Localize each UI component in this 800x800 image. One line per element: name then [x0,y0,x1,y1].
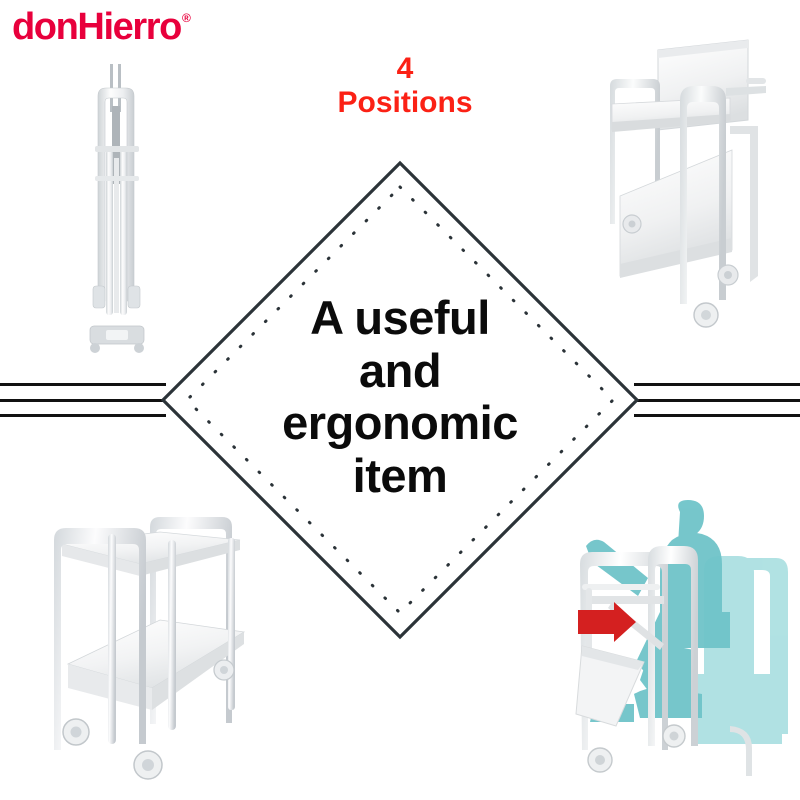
triple-rule-left [0,383,166,417]
folded-trolley-photo [62,58,172,358]
triple-rule-right [634,383,800,417]
semi-folded-upper-shelf [612,98,730,132]
rule-line [0,399,166,402]
folded-trolley-inner-legs [106,150,127,315]
promo-graphic-canvas: donHierro ® 4 Positions A useful and erg… [0,0,800,800]
rule-line [634,383,800,386]
semi-folded-lower-shelf [620,150,732,278]
diamond-tagline: A useful and ergonomic item [200,292,600,503]
open-trolley-photo [32,492,264,792]
tagline-line-2: and [200,345,600,398]
tagline-line-3: ergonomic [200,397,600,450]
brand-logo: donHierro ® [12,8,191,46]
rule-line [0,414,166,417]
positions-count-text: 4 [245,52,565,86]
semi-folded-trolley-photo [580,38,800,343]
rule-line [0,383,166,386]
folded-trolley-base [90,326,144,353]
positions-label-text: Positions [245,86,565,120]
brand-name-text: donHierro [12,8,181,46]
rule-line [634,399,800,402]
tagline-line-1: A useful [200,292,600,345]
trolley-in-use-illustration [552,498,800,800]
registered-trademark-icon: ® [182,12,191,24]
rule-line [634,414,800,417]
positions-headline: 4 Positions [245,52,565,119]
